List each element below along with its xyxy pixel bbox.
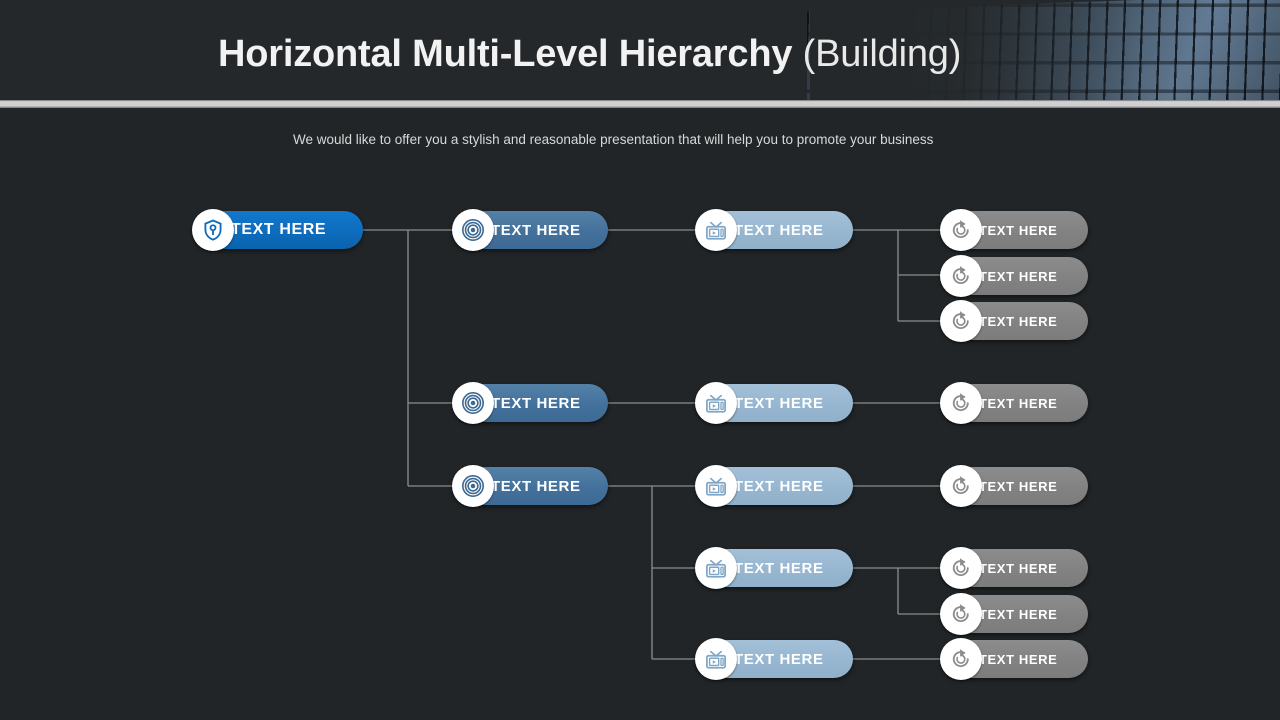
hierarchy-node-level4[interactable]: TEXT HERE bbox=[941, 640, 1088, 678]
target-icon bbox=[452, 209, 494, 251]
hierarchy-node-label: TEXT HERE bbox=[979, 314, 1057, 329]
hierarchy-node-level1[interactable]: TEXT HERE bbox=[193, 211, 363, 249]
hierarchy-node-label: TEXT HERE bbox=[734, 478, 824, 495]
hierarchy-node-label: TEXT HERE bbox=[734, 395, 824, 412]
hierarchy-node-label: TEXT HERE bbox=[979, 652, 1057, 667]
tv-play-icon bbox=[695, 465, 737, 507]
hierarchy-node-level2[interactable]: TEXT HERE bbox=[453, 211, 608, 249]
hierarchy-node-label: TEXT HERE bbox=[979, 223, 1057, 238]
target-icon bbox=[452, 382, 494, 424]
hierarchy-node-level4[interactable]: TEXT HERE bbox=[941, 257, 1088, 295]
hierarchy-node-label: TEXT HERE bbox=[734, 222, 824, 239]
hierarchy-diagram: TEXT HERETEXT HERETEXT HERETEXT HERETEXT… bbox=[0, 0, 1280, 720]
refresh-icon bbox=[940, 255, 982, 297]
hierarchy-node-level3[interactable]: TEXT HERE bbox=[696, 640, 853, 678]
hierarchy-node-label: TEXT HERE bbox=[734, 651, 824, 668]
hierarchy-node-label: TEXT HERE bbox=[979, 607, 1057, 622]
hierarchy-node-label: TEXT HERE bbox=[491, 222, 581, 239]
hierarchy-node-level4[interactable]: TEXT HERE bbox=[941, 211, 1088, 249]
refresh-icon bbox=[940, 593, 982, 635]
hierarchy-node-label: TEXT HERE bbox=[231, 221, 326, 239]
tv-play-icon bbox=[695, 209, 737, 251]
hierarchy-node-level4[interactable]: TEXT HERE bbox=[941, 549, 1088, 587]
target-icon bbox=[452, 465, 494, 507]
hierarchy-node-level3[interactable]: TEXT HERE bbox=[696, 384, 853, 422]
tv-play-icon bbox=[695, 382, 737, 424]
hierarchy-node-level3[interactable]: TEXT HERE bbox=[696, 549, 853, 587]
tv-play-icon bbox=[695, 547, 737, 589]
refresh-icon bbox=[940, 300, 982, 342]
hierarchy-node-level2[interactable]: TEXT HERE bbox=[453, 467, 608, 505]
hierarchy-node-label: TEXT HERE bbox=[491, 395, 581, 412]
hierarchy-node-level4[interactable]: TEXT HERE bbox=[941, 384, 1088, 422]
hierarchy-node-level4[interactable]: TEXT HERE bbox=[941, 595, 1088, 633]
hierarchy-node-label: TEXT HERE bbox=[491, 478, 581, 495]
hierarchy-node-level2[interactable]: TEXT HERE bbox=[453, 384, 608, 422]
tv-play-icon bbox=[695, 638, 737, 680]
hierarchy-node-level3[interactable]: TEXT HERE bbox=[696, 467, 853, 505]
hierarchy-node-level3[interactable]: TEXT HERE bbox=[696, 211, 853, 249]
hierarchy-node-label: TEXT HERE bbox=[979, 269, 1057, 284]
hierarchy-node-level4[interactable]: TEXT HERE bbox=[941, 302, 1088, 340]
hierarchy-node-label: TEXT HERE bbox=[979, 479, 1057, 494]
shield-icon bbox=[192, 209, 234, 251]
refresh-icon bbox=[940, 638, 982, 680]
hierarchy-node-label: TEXT HERE bbox=[979, 561, 1057, 576]
refresh-icon bbox=[940, 547, 982, 589]
refresh-icon bbox=[940, 209, 982, 251]
hierarchy-node-label: TEXT HERE bbox=[979, 396, 1057, 411]
refresh-icon bbox=[940, 465, 982, 507]
hierarchy-node-level4[interactable]: TEXT HERE bbox=[941, 467, 1088, 505]
refresh-icon bbox=[940, 382, 982, 424]
hierarchy-node-label: TEXT HERE bbox=[734, 560, 824, 577]
connector-lines bbox=[0, 0, 1280, 720]
